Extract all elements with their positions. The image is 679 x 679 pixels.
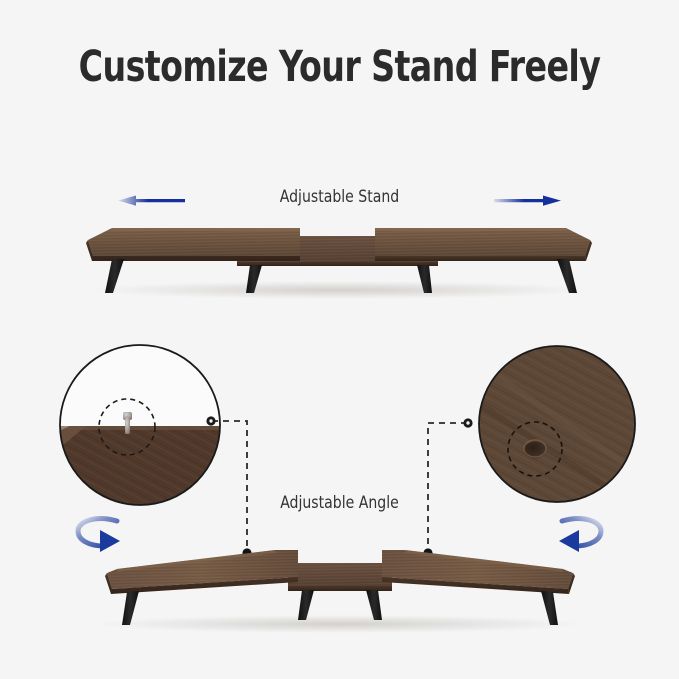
angled-stand-left-wing <box>105 550 298 594</box>
arrow-left-icon <box>118 196 185 206</box>
angled-stand-shadow <box>94 615 584 633</box>
connector-right <box>423 418 472 557</box>
with-retainer-callout <box>55 345 235 510</box>
stand-left-plate <box>86 228 300 261</box>
adjustable-stand-illustration <box>86 196 592 300</box>
hole-icon <box>524 440 546 459</box>
stand-right-plate <box>375 228 592 261</box>
angled-stand-right-wing <box>382 550 575 594</box>
angled-stand-center-bridge <box>288 563 392 591</box>
stand-shadow <box>89 281 589 299</box>
adjustable-angle-illustration <box>78 519 601 633</box>
infographic-canvas: Customize Your Stand Freely Adjustable S… <box>0 0 679 679</box>
arrow-right-icon <box>494 196 561 206</box>
illustration-layer <box>0 0 679 679</box>
rotate-counterclockwise-icon <box>559 519 601 552</box>
rotate-clockwise-icon <box>78 519 120 552</box>
porous-fixation-callout <box>475 344 645 512</box>
